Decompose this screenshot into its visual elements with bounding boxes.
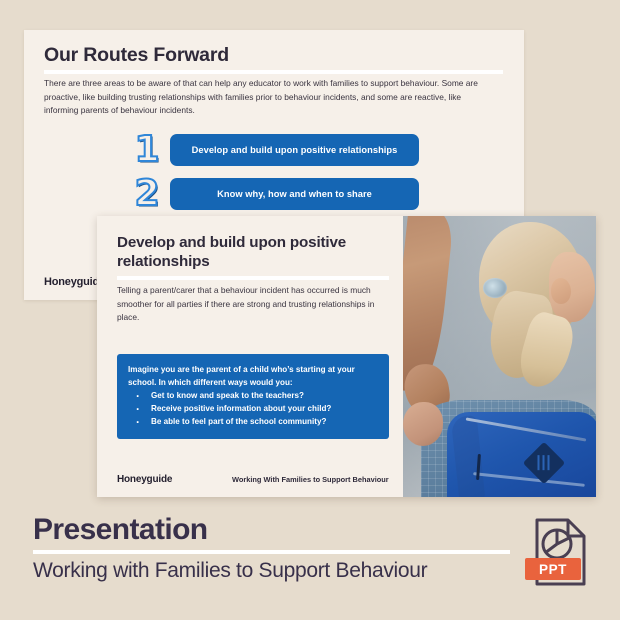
callout-list-item: Get to know and speak to the teachers? [142, 390, 378, 403]
step-number: 1 [124, 132, 170, 168]
step-pill[interactable]: Know why, how and when to share [170, 178, 419, 210]
product-card: Our Routes Forward There are three areas… [0, 0, 620, 620]
product-subtitle: Working with Families to Support Behavio… [33, 559, 513, 582]
slide-two-content: Develop and build upon positive relation… [97, 216, 407, 497]
slide-one-body: There are three areas to be aware of tha… [44, 77, 496, 118]
child-ear [551, 278, 571, 304]
powerpoint-file-icon: PPT [527, 516, 593, 588]
slide-two-body: Telling a parent/carer that a behaviour … [117, 284, 391, 325]
slide-one-step-list: 1 Develop and build upon positive relati… [124, 128, 524, 216]
caption-rule [33, 550, 510, 554]
child-hand [403, 402, 443, 446]
step-row: 1 Develop and build upon positive relati… [124, 128, 524, 172]
slide-thumbnail-front[interactable]: Develop and build upon positive relation… [97, 216, 596, 497]
slide-two-footer-title: Working With Families to Support Behavio… [232, 475, 389, 484]
slide-two-title-rule [117, 276, 389, 280]
slide-one-brand: Honeyguide [44, 276, 105, 288]
slide-two-callout: Imagine you are the parent of a child wh… [117, 354, 389, 439]
step-pill[interactable]: Develop and build upon positive relation… [170, 134, 419, 166]
hair-scrunchie [483, 278, 507, 298]
callout-list-item: Receive positive information about your … [142, 403, 378, 416]
callout-intro: Imagine you are the parent of a child wh… [128, 364, 378, 389]
step-row: 2 Know why, how and when to share [124, 172, 524, 216]
slide-two-brand: Honeyguide [117, 474, 172, 485]
slide-two-title: Develop and build upon positive relation… [117, 233, 389, 271]
child-with-backpack-photo [403, 216, 596, 497]
step-number: 2 [124, 176, 170, 212]
ppt-badge: PPT [525, 558, 581, 580]
slide-one-title: Our Routes Forward [44, 44, 229, 67]
callout-list: Get to know and speak to the teachers? R… [128, 390, 378, 428]
caption-block: Presentation Working with Families to Su… [33, 514, 513, 582]
product-title: Presentation [33, 514, 513, 546]
slide-one-title-rule [44, 70, 503, 74]
callout-list-item: Be able to feel part of the school commu… [142, 416, 378, 429]
